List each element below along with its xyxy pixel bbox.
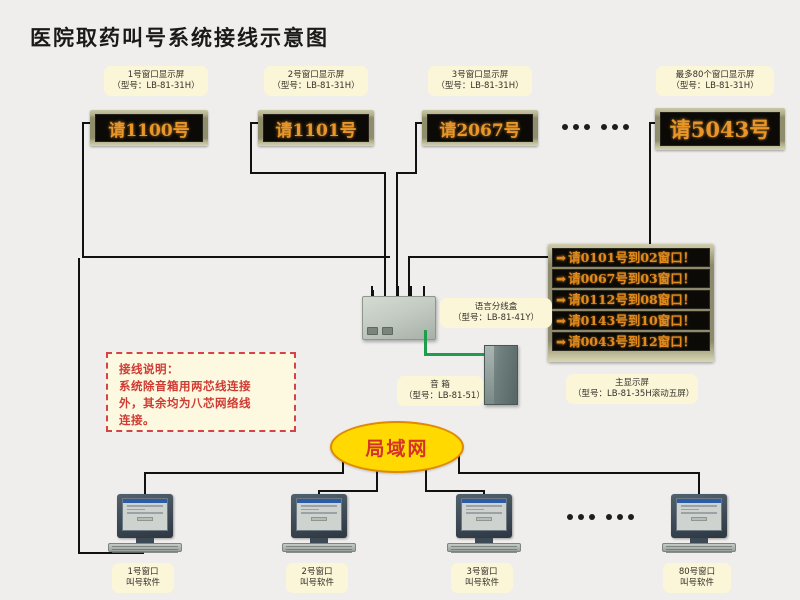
arrow-right-icon: ➡ bbox=[556, 252, 566, 264]
workstation-1-label-line2: 叫号软件 bbox=[119, 578, 167, 589]
wiring-note-line2: 外，其余均为八芯网络线 bbox=[119, 395, 285, 412]
speaker bbox=[484, 345, 518, 405]
keyboard bbox=[108, 543, 182, 552]
ellipsis-dot bbox=[601, 124, 607, 130]
window-display-4-text: 请5043号 bbox=[670, 114, 770, 144]
workstation-4-label-line2: 叫号软件 bbox=[670, 578, 724, 589]
ellipsis-dot bbox=[567, 514, 573, 520]
main-display-label: 主显示屏 （型号：LB-81-35H滚动五屏） bbox=[566, 374, 698, 404]
ellipsis-dot bbox=[584, 124, 590, 130]
workstations-ellipsis bbox=[567, 514, 634, 520]
workstation-1 bbox=[108, 494, 182, 556]
wire-display2-run bbox=[250, 172, 386, 174]
display4-label: 最多80个窗口显示屏 （型号：LB-81-31H） bbox=[656, 66, 774, 96]
workstation-3 bbox=[447, 494, 521, 556]
screen-line bbox=[301, 505, 337, 507]
workstation-3-label-line1: 3号窗口 bbox=[467, 567, 498, 577]
display4-label-line2: （型号：LB-81-31H） bbox=[663, 81, 767, 92]
screen-button bbox=[137, 517, 153, 521]
page-title: 医院取药叫号系统接线示意图 bbox=[30, 22, 329, 52]
main-display-row: ➡ 请0067号到03窗口！ bbox=[552, 269, 710, 288]
wire-display3-vertical bbox=[415, 122, 417, 174]
keyboard bbox=[662, 543, 736, 552]
main-display-row: ➡ 请0101号到02窗口！ bbox=[552, 248, 710, 267]
window-display-2: 请1101号 bbox=[258, 110, 374, 146]
ellipsis-dot bbox=[606, 514, 612, 520]
workstation-2-label-line1: 2号窗口 bbox=[302, 567, 333, 577]
display2-label-line2: （型号：LB-81-31H） bbox=[271, 81, 361, 92]
speaker-label-line1: 音 箱 bbox=[430, 380, 450, 390]
wire-audio-horizontal bbox=[424, 353, 484, 356]
arrow-right-icon: ➡ bbox=[556, 315, 566, 327]
screen-line bbox=[127, 512, 163, 514]
wire-lan-pc3-bus bbox=[425, 490, 485, 492]
jbox-port bbox=[367, 327, 378, 335]
ellipsis-dot bbox=[617, 514, 623, 520]
window-display-2-text: 请1101号 bbox=[275, 116, 356, 141]
main-display: ➡ 请0101号到02窗口！ ➡ 请0067号到03窗口！ ➡ 请0112号到0… bbox=[548, 244, 714, 362]
titlebar bbox=[123, 499, 167, 503]
monitor-screen bbox=[676, 498, 722, 531]
wire-display2-vertical bbox=[250, 122, 252, 174]
screen-line bbox=[466, 512, 502, 514]
ellipsis-dot bbox=[562, 124, 568, 130]
wiring-note-line3: 连接。 bbox=[119, 412, 285, 429]
speaker-label: 音 箱 （型号：LB-81-51） bbox=[397, 376, 483, 406]
main-display-row-text: 请0101号到02窗口！ bbox=[568, 251, 695, 264]
jbox-port bbox=[382, 327, 393, 335]
workstation-4 bbox=[662, 494, 736, 556]
wire-lan-right-bus bbox=[458, 472, 700, 474]
ellipsis-dot bbox=[623, 124, 629, 130]
speaker-label-line2: （型号：LB-81-51） bbox=[404, 391, 476, 402]
diagram-canvas: 医院取药叫号系统接线示意图 1号窗口显示屏 （型号：LB-81-31H） 2号窗… bbox=[0, 0, 800, 600]
display1-label-line1: 1号窗口显示屏 bbox=[128, 70, 184, 80]
wire-display2-down bbox=[384, 172, 386, 296]
workstation-2-label: 2号窗口 叫号软件 bbox=[286, 563, 348, 593]
wire-display1-vertical bbox=[82, 122, 84, 258]
wire-display3-run bbox=[396, 172, 417, 174]
wire-display1-run bbox=[82, 256, 390, 258]
ellipsis-dot bbox=[612, 124, 618, 130]
main-display-row: ➡ 请0143号到10窗口！ bbox=[552, 311, 710, 330]
window-display-1: 请1100号 bbox=[90, 110, 208, 146]
main-display-label-line2: （型号：LB-81-35H滚动五屏） bbox=[573, 389, 691, 400]
window-display-3: 请2067号 bbox=[422, 110, 538, 146]
main-display-row: ➡ 请0112号到08窗口！ bbox=[552, 290, 710, 309]
window-display-2-screen: 请1101号 bbox=[263, 114, 369, 142]
display3-label-line1: 3号窗口显示屏 bbox=[452, 70, 508, 80]
workstation-4-label: 80号窗口 叫号软件 bbox=[663, 563, 731, 593]
wire-left-riser bbox=[78, 258, 80, 554]
workstation-4-label-line1: 80号窗口 bbox=[679, 567, 715, 577]
display1-label-line2: （型号：LB-81-31H） bbox=[111, 81, 201, 92]
window-display-4: 请5043号 bbox=[655, 108, 785, 150]
main-display-row-text: 请0143号到10窗口！ bbox=[568, 314, 695, 327]
speaker-face bbox=[485, 346, 494, 404]
display4-label-line1: 最多80个窗口显示屏 bbox=[676, 70, 755, 80]
wiring-note-heading: 接线说明： bbox=[119, 361, 285, 378]
titlebar bbox=[462, 499, 506, 503]
screen-line bbox=[127, 505, 163, 507]
ellipsis-dot bbox=[628, 514, 634, 520]
workstation-2 bbox=[282, 494, 356, 556]
keyboard bbox=[447, 543, 521, 552]
monitor-screen bbox=[296, 498, 342, 531]
junction-box-label-line1: 语言分线盒 bbox=[475, 302, 518, 312]
main-display-row-text: 请0043号到12窗口！ bbox=[568, 335, 695, 348]
screen-line bbox=[127, 509, 145, 511]
junction-box-label-line2: （型号：LB-81-41Y） bbox=[447, 313, 545, 324]
monitor-screen bbox=[122, 498, 168, 531]
displays-ellipsis bbox=[562, 124, 629, 130]
wire-audio-vertical bbox=[424, 330, 427, 355]
ellipsis-dot bbox=[578, 514, 584, 520]
arrow-right-icon: ➡ bbox=[556, 294, 566, 306]
ellipsis-dot bbox=[573, 124, 579, 130]
screen-line bbox=[681, 509, 699, 511]
workstation-3-label-line2: 叫号软件 bbox=[458, 578, 506, 589]
workstation-1-label: 1号窗口 叫号软件 bbox=[112, 563, 174, 593]
monitor bbox=[671, 494, 727, 538]
workstation-1-label-line1: 1号窗口 bbox=[128, 567, 159, 577]
main-display-label-line1: 主显示屏 bbox=[615, 378, 649, 388]
wiring-note: 接线说明： 系统除音箱用两芯线连接 外，其余均为八芯网络线 连接。 bbox=[106, 352, 296, 432]
wire-display4-vertical bbox=[649, 122, 651, 258]
window-display-4-screen: 请5043号 bbox=[660, 112, 780, 146]
main-display-row-text: 请0112号到08窗口！ bbox=[568, 293, 695, 306]
arrow-right-icon: ➡ bbox=[556, 273, 566, 285]
screen-line bbox=[466, 509, 484, 511]
display3-label-line2: （型号：LB-81-31H） bbox=[435, 81, 525, 92]
wire-lan-pc2-bus bbox=[318, 490, 378, 492]
screen-line bbox=[301, 512, 337, 514]
keyboard bbox=[282, 543, 356, 552]
wire-lan-left-bus bbox=[144, 472, 344, 474]
arrow-right-icon: ➡ bbox=[556, 336, 566, 348]
titlebar bbox=[677, 499, 721, 503]
wiring-note-line1: 系统除音箱用两芯线连接 bbox=[119, 378, 285, 395]
screen-line bbox=[681, 512, 717, 514]
monitor bbox=[291, 494, 347, 538]
ellipsis-dot bbox=[589, 514, 595, 520]
screen-line bbox=[466, 505, 502, 507]
junction-box-label: 语言分线盒 （型号：LB-81-41Y） bbox=[440, 298, 552, 328]
monitor-screen bbox=[461, 498, 507, 531]
titlebar bbox=[297, 499, 341, 503]
workstation-2-label-line2: 叫号软件 bbox=[293, 578, 341, 589]
wire-lan-right-drop bbox=[458, 455, 460, 472]
main-display-row-text: 请0067号到03窗口！ bbox=[568, 272, 695, 285]
lan-label: 局域网 bbox=[365, 434, 428, 461]
display2-label-line1: 2号窗口显示屏 bbox=[288, 70, 344, 80]
window-display-3-text: 请2067号 bbox=[439, 116, 520, 141]
window-display-1-screen: 请1100号 bbox=[95, 114, 203, 142]
wire-display3-down bbox=[396, 172, 398, 296]
screen-line bbox=[681, 505, 717, 507]
workstation-3-label: 3号窗口 叫号软件 bbox=[451, 563, 513, 593]
display3-label: 3号窗口显示屏 （型号：LB-81-31H） bbox=[428, 66, 532, 96]
screen-button bbox=[311, 517, 327, 521]
window-display-1-text: 请1100号 bbox=[108, 116, 189, 141]
monitor bbox=[456, 494, 512, 538]
monitor bbox=[117, 494, 173, 538]
screen-line bbox=[301, 509, 319, 511]
window-display-3-screen: 请2067号 bbox=[427, 114, 533, 142]
screen-button bbox=[691, 517, 707, 521]
display2-label: 2号窗口显示屏 （型号：LB-81-31H） bbox=[264, 66, 368, 96]
screen-button bbox=[476, 517, 492, 521]
lan-node: 局域网 bbox=[330, 421, 464, 473]
main-display-row: ➡ 请0043号到12窗口！ bbox=[552, 332, 710, 351]
display1-label: 1号窗口显示屏 （型号：LB-81-31H） bbox=[104, 66, 208, 96]
